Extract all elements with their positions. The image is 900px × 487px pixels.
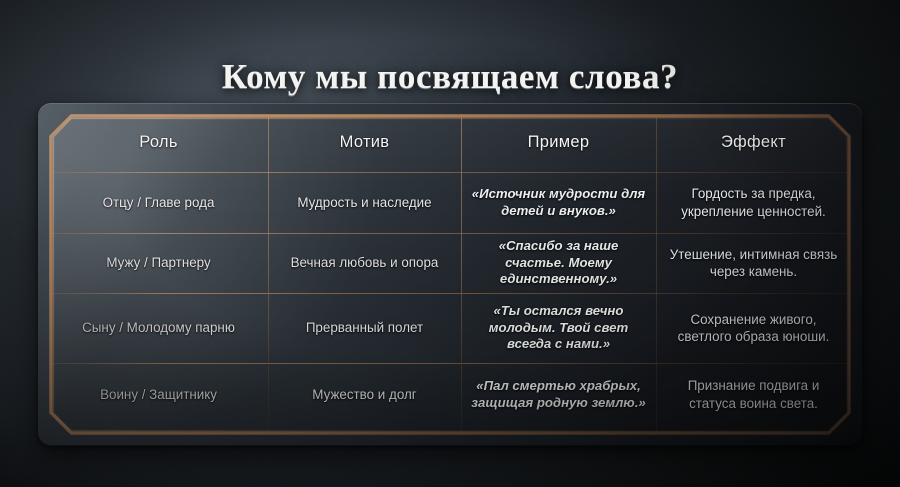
table-row: Сохранение живого, светлого образа юноши…	[656, 293, 851, 363]
table-frame: Роль Мотив Пример Эффект Отцу / Главе ро…	[49, 114, 851, 435]
table-row: «Ты остался вечно молодым. Твой свет все…	[461, 293, 656, 363]
table-row: Признание подвига и статуса воина света.	[656, 363, 851, 426]
comparison-table: Роль Мотив Пример Эффект Отцу / Главе ро…	[49, 114, 851, 435]
table-row: Мужу / Партнеру	[49, 233, 268, 293]
table-row: Мужество и долг	[268, 363, 461, 426]
table-row: Гордость за предка, укрепление ценностей…	[656, 172, 851, 233]
table-panel: Роль Мотив Пример Эффект Отцу / Главе ро…	[38, 103, 862, 446]
table-header-motive: Мотив	[268, 114, 461, 172]
table-row: Прерванный полет	[268, 293, 461, 363]
page-title: Кому мы посвящаем слова?	[0, 57, 900, 97]
table-row: Воину / Защитнику	[49, 363, 268, 426]
table-row: Сыну / Молодому парню	[49, 293, 268, 363]
table-header-example: Пример	[461, 114, 656, 172]
table-row: «Пал смертью храбрых, защищая родную зем…	[461, 363, 656, 426]
table-row: «Источник мудрости для детей и внуков.»	[461, 172, 656, 233]
table-header-effect: Эффект	[656, 114, 851, 172]
table-row: Утешение, интимная связь через камень.	[656, 233, 851, 293]
table-row: «Спасибо за наше счастье. Моему единстве…	[461, 233, 656, 293]
table-header-role: Роль	[49, 114, 268, 172]
slide-stage: Кому мы посвящаем слова? Роль Мотив Прим…	[0, 0, 900, 487]
table-row: Вечная любовь и опора	[268, 233, 461, 293]
table-row: Отцу / Главе рода	[49, 172, 268, 233]
table-row: Мудрость и наследие	[268, 172, 461, 233]
